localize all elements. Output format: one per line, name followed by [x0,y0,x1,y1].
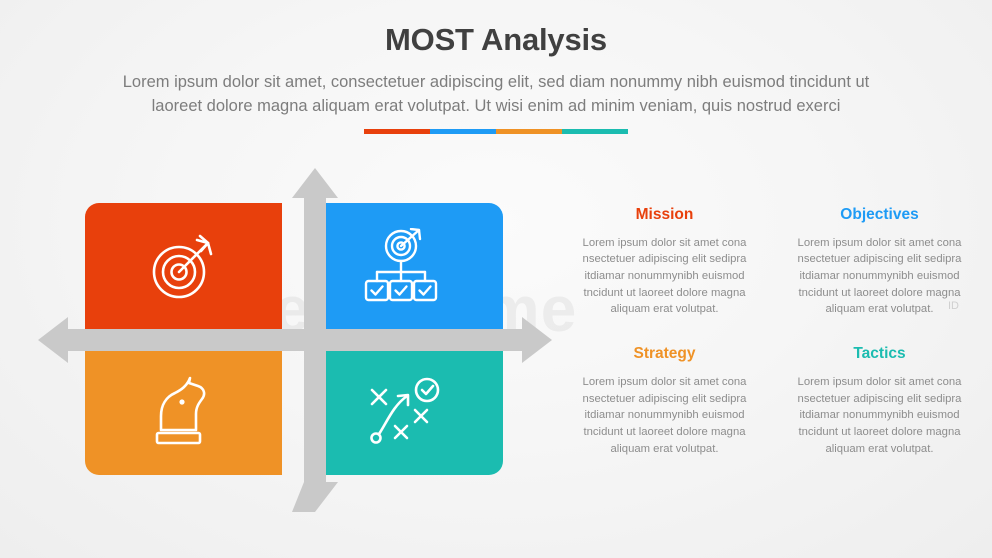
accent-color-bar [364,129,628,134]
quadrant-matrix [85,203,503,475]
detail-title-tactics: Tactics [781,345,978,364]
accent-segment-mission [364,129,430,134]
detail-body-line: aliquam erat volutpat. [566,301,763,318]
subtitle: Lorem ipsum dolor sit amet, consectetuer… [0,70,992,120]
detail-blocks: Mission Lorem ipsum dolor sit amet cona … [566,206,978,457]
quadrant-objectives[interactable] [306,203,503,330]
detail-body-line: nsectetuer adipiscing elit sedipra [566,391,763,408]
detail-body-line: nsectetuer adipiscing elit sedipra [566,251,763,268]
detail-body-line: itdiamar nonummynibh euismod [781,268,978,285]
accent-segment-tactics [562,129,628,134]
infographic-canvas: MOST Analysis Lorem ipsum dolor sit amet… [0,0,992,558]
detail-block-tactics: Tactics Lorem ipsum dolor sit amet cona … [781,345,978,457]
detail-body-line: itdiamar nonummynibh euismod [566,268,763,285]
detail-body-objectives: Lorem ipsum dolor sit amet cona nsectetu… [781,235,978,319]
detail-title-strategy: Strategy [566,345,763,364]
detail-body-strategy: Lorem ipsum dolor sit amet cona nsectetu… [566,374,763,458]
subtitle-line-1: Lorem ipsum dolor sit amet, consectetuer… [0,70,992,95]
target-arrow-icon [85,203,282,330]
detail-body-line: aliquam erat volutpat. [781,441,978,458]
detail-body-line: aliquam erat volutpat. [781,301,978,318]
org-chart-target-icon [306,203,503,330]
detail-body-line: Lorem ipsum dolor sit amet cona [781,235,978,252]
accent-segment-strategy [496,129,562,134]
playbook-strategy-icon [306,348,503,475]
detail-body-line: itdiamar nonummynibh euismod [781,407,978,424]
subtitle-line-2: laoreet dolore magna aliquam erat volutp… [0,94,992,119]
detail-block-mission: Mission Lorem ipsum dolor sit amet cona … [566,206,763,318]
quadrant-tactics[interactable] [306,348,503,475]
detail-body-line: Lorem ipsum dolor sit amet cona [566,374,763,391]
detail-body-line: itdiamar nonummynibh euismod [566,407,763,424]
page-title: MOST Analysis [0,22,992,58]
detail-body-line: aliquam erat volutpat. [566,441,763,458]
detail-body-line: tncidunt ut laoreet dolore magna [566,285,763,302]
header: MOST Analysis Lorem ipsum dolor sit amet… [0,22,992,119]
detail-block-objectives: Objectives Lorem ipsum dolor sit amet co… [781,206,978,318]
detail-body-line: nsectetuer adipiscing elit sedipra [781,251,978,268]
detail-body-line: tncidunt ut laoreet dolore magna [781,424,978,441]
detail-body-line: tncidunt ut laoreet dolore magna [566,424,763,441]
detail-body-tactics: Lorem ipsum dolor sit amet cona nsectetu… [781,374,978,458]
detail-block-strategy: Strategy Lorem ipsum dolor sit amet cona… [566,345,763,457]
chess-knight-icon [85,348,282,475]
detail-body-line: nsectetuer adipiscing elit sedipra [781,391,978,408]
detail-title-objectives: Objectives [781,206,978,225]
quadrant-mission[interactable] [85,203,282,330]
accent-segment-objectives [430,129,496,134]
detail-body-line: Lorem ipsum dolor sit amet cona [566,235,763,252]
quadrant-strategy[interactable] [85,348,282,475]
detail-body-line: Lorem ipsum dolor sit amet cona [781,374,978,391]
detail-body-line: tncidunt ut laoreet dolore magna [781,285,978,302]
detail-title-mission: Mission [566,206,763,225]
detail-body-mission: Lorem ipsum dolor sit amet cona nsectetu… [566,235,763,319]
